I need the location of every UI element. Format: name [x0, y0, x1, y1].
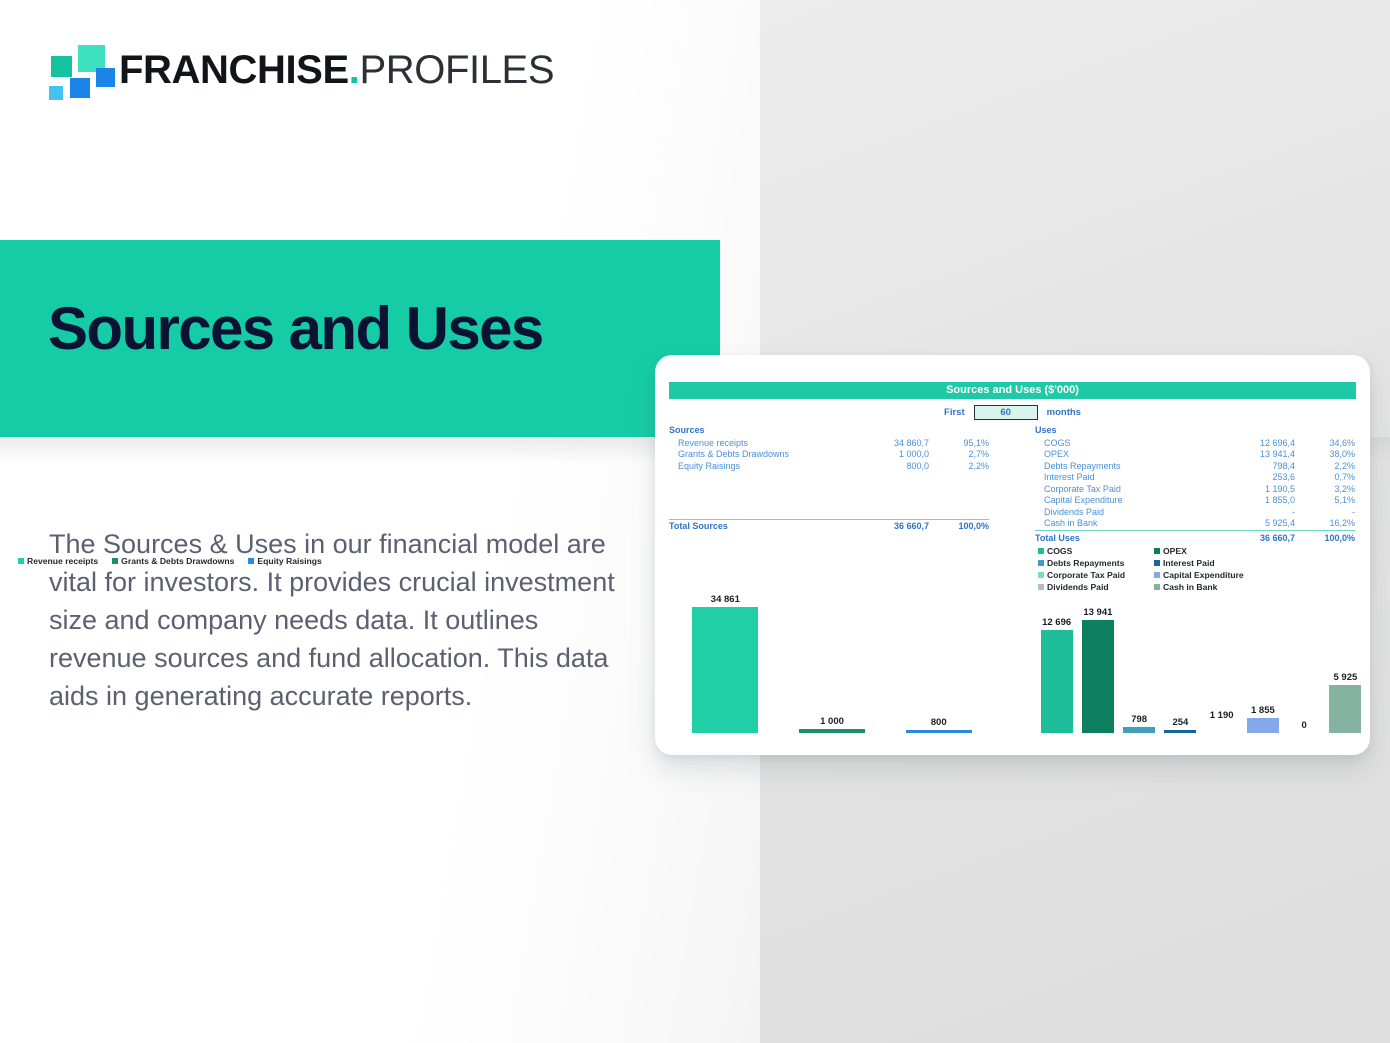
sources-row-percent: 2,2% [929, 461, 989, 471]
uses-bar[interactable] [1164, 730, 1196, 733]
uses-row-label: Interest Paid [1035, 472, 1217, 482]
sources-row-label: Revenue receipts [669, 438, 851, 448]
uses-row: Dividends Paid-- [1035, 506, 1355, 518]
uses-row-label: Capital Expenditure [1035, 495, 1217, 505]
brand-wordmark: FRANCHISE.PROFILES [119, 50, 554, 90]
sources-legend-item[interactable]: Grants & Debts Drawdowns [112, 556, 234, 566]
uses-bar-group: 5 925 [1325, 595, 1366, 733]
uses-bar-group: 0 [1284, 595, 1325, 733]
brand-name-bold: FRANCHISE [119, 48, 349, 92]
sources-bar-value-label: 34 861 [711, 594, 740, 605]
legend-swatch-icon [1038, 584, 1044, 590]
uses-row: Debts Repayments798,42,2% [1035, 460, 1355, 472]
uses-bar-group: 13 941 [1077, 595, 1118, 733]
uses-bar[interactable] [1329, 685, 1361, 733]
uses-bar-group: 798 [1119, 595, 1160, 733]
sources-row-value: 1 000,0 [851, 449, 929, 459]
brand-logo: FRANCHISE.PROFILES [48, 44, 554, 96]
sources-row-percent: 2,7% [929, 449, 989, 459]
uses-legend-label: Corporate Tax Paid [1047, 570, 1125, 580]
uses-bar-value-label: 13 941 [1083, 607, 1112, 618]
sources-statement: Sources Revenue receipts34 860,795,1%Gra… [669, 425, 989, 533]
legend-swatch-icon [1038, 560, 1044, 566]
uses-legend-label: OPEX [1163, 546, 1187, 556]
legend-swatch-icon [112, 558, 118, 564]
uses-row-value: - [1217, 507, 1295, 517]
uses-row-percent: 0,7% [1295, 472, 1355, 482]
uses-row-value: 12 696,4 [1217, 438, 1295, 448]
legend-swatch-icon [1154, 560, 1160, 566]
sources-bar-group: 1 000 [779, 585, 886, 733]
page-title: Sources and Uses [48, 299, 543, 359]
uses-legend-label: Interest Paid [1163, 558, 1215, 568]
uses-legend-item[interactable]: Debts Repayments [1038, 558, 1154, 568]
sources-legend-item[interactable]: Equity Raisings [248, 556, 321, 566]
uses-legend-item[interactable]: Cash in Bank [1154, 582, 1270, 592]
uses-legend-item[interactable]: OPEX [1154, 546, 1270, 556]
report-title: Sources and Uses ($'000) [669, 382, 1356, 399]
legend-swatch-icon [1038, 548, 1044, 554]
background-left-wash [0, 0, 760, 1043]
uses-bar-value-label: 254 [1172, 717, 1188, 728]
sources-bar-value-label: 1 000 [820, 716, 844, 727]
sources-chart-legend: Revenue receiptsGrants & Debts Drawdowns… [18, 556, 348, 566]
sources-row-value: 34 860,7 [851, 438, 929, 448]
sources-bar[interactable] [799, 729, 865, 733]
sources-legend-item[interactable]: Revenue receipts [18, 556, 98, 566]
period-months-input[interactable]: 60 [974, 405, 1038, 420]
sources-legend-label: Equity Raisings [257, 556, 321, 566]
sources-bar[interactable] [906, 730, 972, 733]
uses-row-value: 1 855,0 [1217, 495, 1295, 505]
uses-row-percent: 38,0% [1295, 449, 1355, 459]
uses-legend-item[interactable]: COGS [1038, 546, 1154, 556]
sources-bar-group: 800 [885, 585, 992, 733]
uses-row: Cash in Bank5 925,416,2% [1035, 518, 1355, 530]
brand-name-light: PROFILES [359, 48, 554, 92]
uses-row-percent: 16,2% [1295, 518, 1355, 528]
uses-row-label: Corporate Tax Paid [1035, 484, 1217, 494]
uses-bar[interactable] [1082, 620, 1114, 733]
sources-row-label: Grants & Debts Drawdowns [669, 449, 851, 459]
uses-row-label: OPEX [1035, 449, 1217, 459]
uses-row-percent: 2,2% [1295, 461, 1355, 471]
sources-row-label: Equity Raisings [669, 461, 851, 471]
sources-heading: Sources [669, 425, 989, 435]
sources-legend-label: Revenue receipts [27, 556, 98, 566]
uses-bar[interactable] [1247, 718, 1279, 733]
uses-row-value: 253,6 [1217, 472, 1295, 482]
uses-bar-chart: 12 69613 9417982541 1901 85505 925 [1036, 595, 1366, 733]
uses-chart-legend: COGSOPEXDebts RepaymentsInterest PaidCor… [1038, 546, 1368, 594]
body-paragraph: The Sources & Uses in our financial mode… [49, 525, 629, 715]
uses-row-value: 798,4 [1217, 461, 1295, 471]
uses-row: Corporate Tax Paid1 190,53,2% [1035, 483, 1355, 495]
sources-bar-group: 34 861 [672, 585, 779, 733]
uses-bar-group: 1 190 [1201, 595, 1242, 733]
sources-total-percent: 100,0% [929, 521, 989, 531]
uses-bar-value-label: 798 [1131, 714, 1147, 725]
uses-bar-value-label: 12 696 [1042, 617, 1071, 628]
uses-rows: COGS12 696,434,6%OPEX13 941,438,0%Debts … [1035, 437, 1355, 529]
uses-row-label: Cash in Bank [1035, 518, 1217, 528]
uses-row-value: 5 925,4 [1217, 518, 1295, 528]
uses-row-percent: - [1295, 507, 1355, 517]
uses-bar-value-label: 5 925 [1333, 672, 1357, 683]
sources-row: Revenue receipts34 860,795,1% [669, 437, 989, 449]
sources-rows: Revenue receipts34 860,795,1%Grants & De… [669, 437, 989, 472]
uses-row: COGS12 696,434,6% [1035, 437, 1355, 449]
uses-row: Capital Expenditure1 855,05,1% [1035, 495, 1355, 507]
sources-row: Grants & Debts Drawdowns1 000,02,7% [669, 449, 989, 461]
uses-heading: Uses [1035, 425, 1355, 435]
uses-row: Interest Paid253,60,7% [1035, 472, 1355, 484]
legend-swatch-icon [18, 558, 24, 564]
uses-row-percent: 34,6% [1295, 438, 1355, 448]
uses-bar-value-label: 1 190 [1210, 710, 1234, 721]
sources-total-label: Total Sources [669, 521, 851, 531]
squares-mark-icon [48, 44, 110, 96]
uses-row-value: 1 190,5 [1217, 484, 1295, 494]
uses-bar-group: 12 696 [1036, 595, 1077, 733]
uses-total-label: Total Uses [1035, 533, 1217, 543]
period-prefix-label: First [944, 407, 965, 418]
uses-row-percent: 3,2% [1295, 484, 1355, 494]
uses-legend-label: Cash in Bank [1163, 582, 1217, 592]
uses-total-percent: 100,0% [1295, 533, 1355, 543]
uses-row: OPEX13 941,438,0% [1035, 449, 1355, 461]
sources-bar-value-label: 800 [931, 717, 947, 728]
uses-total-row: Total Uses 36 660,7 100,0% [1035, 530, 1355, 544]
sources-total-value: 36 660,7 [851, 521, 929, 531]
uses-legend-label: COGS [1047, 546, 1072, 556]
uses-legend-item[interactable]: Dividends Paid [1038, 582, 1154, 592]
uses-bar-value-label: 1 855 [1251, 705, 1275, 716]
uses-bar-group: 1 855 [1242, 595, 1283, 733]
uses-bar-value-label: 0 [1301, 720, 1306, 731]
legend-swatch-icon [1038, 572, 1044, 578]
uses-statement: Uses COGS12 696,434,6%OPEX13 941,438,0%D… [1035, 425, 1355, 544]
uses-legend-item[interactable]: Corporate Tax Paid [1038, 570, 1154, 580]
uses-row-percent: 5,1% [1295, 495, 1355, 505]
sources-bar-chart: 34 8611 000800 [672, 585, 992, 733]
legend-swatch-icon [1154, 572, 1160, 578]
period-suffix-label: months [1047, 407, 1081, 418]
uses-legend-item[interactable]: Interest Paid [1154, 558, 1270, 568]
uses-legend-label: Debts Repayments [1047, 558, 1124, 568]
sources-total-row: Total Sources 36 660,7 100,0% [669, 519, 989, 533]
uses-bar[interactable] [1206, 723, 1238, 733]
uses-row-label: Dividends Paid [1035, 507, 1217, 517]
sources-row: Equity Raisings800,02,2% [669, 460, 989, 472]
sources-row-value: 800,0 [851, 461, 929, 471]
uses-row-label: COGS [1035, 438, 1217, 448]
legend-swatch-icon [248, 558, 254, 564]
uses-total-value: 36 660,7 [1217, 533, 1295, 543]
sources-spacer [669, 472, 989, 518]
uses-bar[interactable] [1123, 727, 1155, 733]
uses-legend-item[interactable]: Capital Expenditure [1154, 570, 1270, 580]
uses-legend-label: Dividends Paid [1047, 582, 1109, 592]
period-selector: First 60 months [669, 405, 1356, 420]
uses-legend-label: Capital Expenditure [1163, 570, 1244, 580]
uses-bar-group: 254 [1160, 595, 1201, 733]
sources-bar[interactable] [692, 607, 758, 733]
uses-bar[interactable] [1041, 630, 1073, 733]
legend-swatch-icon [1154, 584, 1160, 590]
uses-row-label: Debts Repayments [1035, 461, 1217, 471]
uses-row-value: 13 941,4 [1217, 449, 1295, 459]
sources-row-percent: 95,1% [929, 438, 989, 448]
brand-dot: . [349, 48, 360, 92]
sources-legend-label: Grants & Debts Drawdowns [121, 556, 234, 566]
legend-swatch-icon [1154, 548, 1160, 554]
